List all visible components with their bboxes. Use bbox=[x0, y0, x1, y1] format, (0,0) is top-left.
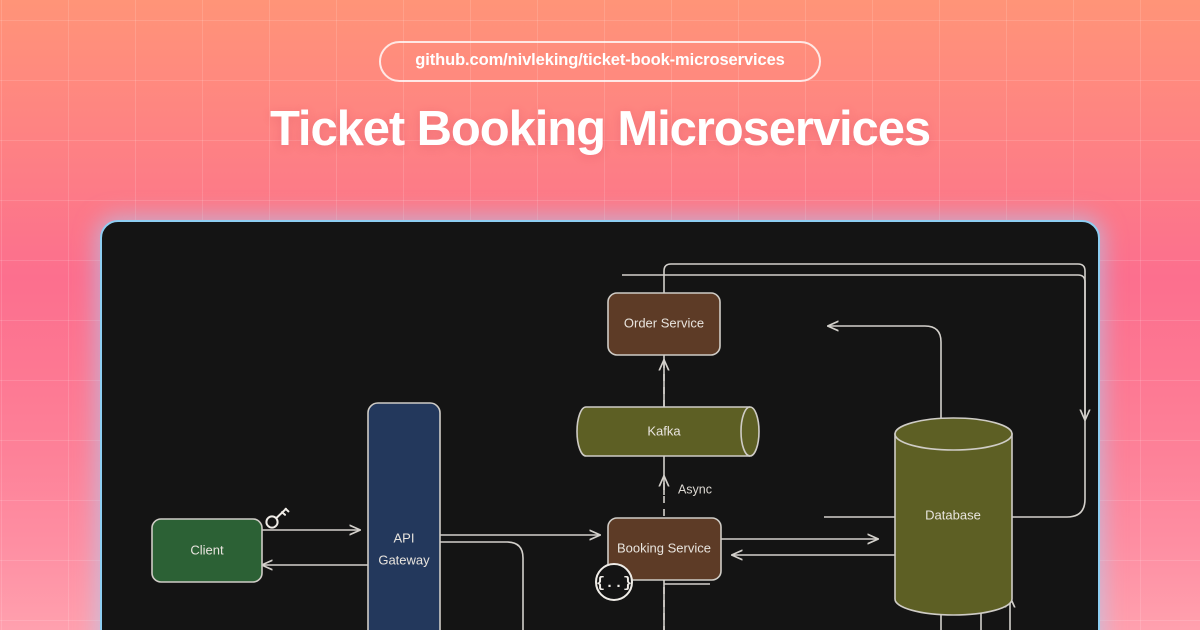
json-braces-badge-glyph: {..} bbox=[596, 575, 632, 592]
node-order-service-label: Order Service bbox=[624, 315, 704, 330]
node-database[interactable]: Database bbox=[895, 418, 1012, 615]
node-api-gateway[interactable]: API Gateway bbox=[368, 403, 440, 630]
edge-gateway-down-route bbox=[440, 542, 523, 630]
node-client-label: Client bbox=[190, 542, 224, 557]
architecture-diagram-svg: Client API Gateway Kafka Async Order Ser… bbox=[102, 222, 1100, 630]
node-database-label: Database bbox=[925, 507, 981, 522]
node-booking-service-label: Booking Service bbox=[617, 540, 711, 555]
node-api-gateway-label-line1: API bbox=[394, 530, 415, 545]
node-kafka[interactable]: Kafka bbox=[577, 407, 759, 456]
key-icon bbox=[266, 509, 288, 528]
node-api-gateway-label-line2: Gateway bbox=[378, 552, 430, 567]
node-client[interactable]: Client bbox=[152, 519, 262, 582]
edge-order-to-database bbox=[664, 264, 1085, 495]
edge-label-async: Async bbox=[678, 482, 712, 496]
architecture-diagram-card: Client API Gateway Kafka Async Order Ser… bbox=[100, 220, 1100, 630]
node-order-service[interactable]: Order Service bbox=[608, 293, 720, 355]
node-kafka-label: Kafka bbox=[647, 423, 681, 438]
repo-url-pill[interactable]: github.com/nivleking/ticket-book-microse… bbox=[379, 41, 821, 82]
json-braces-badge-icon: {..} bbox=[596, 564, 632, 600]
page-header: github.com/nivleking/ticket-book-microse… bbox=[0, 0, 1200, 155]
page-title: Ticket Booking Microservices bbox=[0, 104, 1200, 155]
